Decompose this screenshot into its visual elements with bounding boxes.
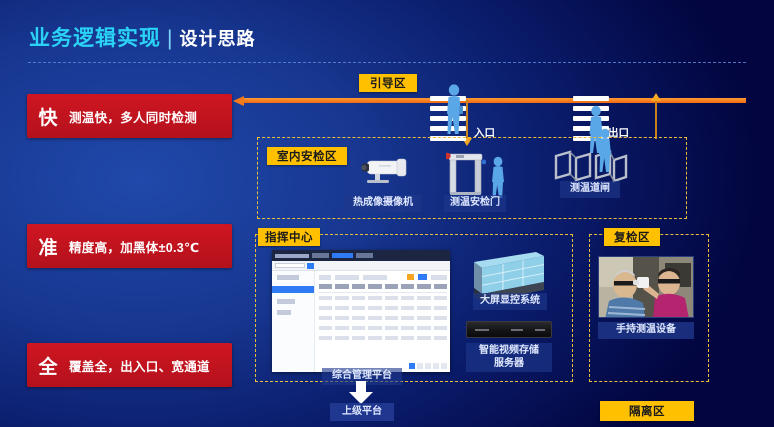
management-platform-screenshot[interactable] — [272, 250, 450, 372]
page-number-active[interactable] — [409, 363, 415, 369]
platform-table-header — [319, 284, 447, 293]
platform-toolbar — [319, 274, 447, 280]
platform-menu-item[interactable] — [277, 275, 299, 280]
toolbar-field[interactable] — [363, 275, 387, 280]
platform-sidebar — [272, 271, 315, 372]
feature-tag-key: 准 — [27, 233, 69, 260]
caption-turnstile: 测温道闸 — [560, 181, 620, 198]
platform-tab[interactable] — [312, 253, 329, 258]
thermal-camera-icon — [353, 155, 415, 189]
caption-upper-platform: 上级平台 — [330, 403, 394, 421]
zone-label-indoor-security: 室内安检区 — [267, 147, 347, 165]
feature-tag-key: 全 — [27, 352, 69, 379]
toolbar-add-button[interactable] — [418, 274, 427, 280]
platform-filter-button[interactable] — [307, 263, 314, 269]
page-number[interactable] — [417, 363, 423, 369]
storage-server-icon — [466, 321, 552, 338]
caption-storage-server-line2: 服务器 — [494, 358, 524, 369]
feature-tag-accurate: 准 精度高，加黑体±0.3℃ — [27, 224, 232, 268]
platform-subbar — [272, 261, 450, 271]
flow-arrow-exit — [655, 100, 657, 139]
caption-storage-server: 智能视频存储 服务器 — [466, 343, 552, 372]
pedestrian-at-turnstile-icon — [594, 128, 616, 174]
toolbar-field — [431, 275, 447, 280]
pedestrian-entrance-icon — [441, 84, 467, 136]
platform-tab[interactable] — [356, 253, 373, 258]
page-title-divider: | — [161, 27, 179, 50]
page-title: 业务逻辑实现|设计思路 — [29, 22, 255, 52]
feature-tag-fast: 快 测温快，多人同时检测 — [27, 94, 232, 138]
flow-line-horizontal — [243, 98, 746, 103]
table-row[interactable] — [319, 323, 447, 333]
platform-menu-item[interactable] — [277, 299, 295, 304]
table-row[interactable] — [319, 333, 447, 343]
caption-video-wall: 大屏显控系统 — [473, 293, 547, 310]
header-divider — [28, 62, 746, 63]
handheld-photo-illustration — [599, 257, 694, 318]
security-gate-icon — [446, 152, 486, 196]
table-row[interactable] — [319, 303, 447, 313]
page-number[interactable] — [433, 363, 439, 369]
page-number[interactable] — [441, 363, 447, 369]
zone-label-command-center: 指挥中心 — [258, 228, 320, 246]
slide-canvas: 业务逻辑实现|设计思路 快 测温快，多人同时检测 准 精度高，加黑体±0.3℃ … — [0, 0, 774, 427]
platform-menu-item-active[interactable] — [272, 286, 314, 293]
zone-label-recheck: 复检区 — [604, 228, 660, 246]
table-row[interactable] — [319, 293, 447, 303]
platform-menu-item[interactable] — [277, 310, 291, 315]
feature-tag-text: 测温快，多人同时检测 — [69, 107, 197, 126]
flow-arrow-down-icon — [347, 381, 375, 405]
caption-thermal-camera: 热成像摄像机 — [345, 195, 421, 212]
platform-topbar — [272, 250, 450, 261]
platform-body — [272, 271, 450, 372]
caption-storage-server-line1: 智能视频存储 — [479, 345, 539, 356]
pedestrian-at-gate-icon — [487, 156, 509, 200]
feature-tag-complete: 全 覆盖全，出入口、宽通道 — [27, 343, 232, 387]
toolbar-field[interactable] — [319, 275, 331, 280]
zone-label-guide: 引导区 — [359, 74, 417, 92]
toolbar-search-button[interactable] — [407, 274, 414, 280]
feature-tag-text: 精度高，加黑体±0.3℃ — [69, 237, 199, 256]
toolbar-field[interactable] — [335, 275, 359, 280]
table-row[interactable] — [319, 313, 447, 323]
page-title-main: 业务逻辑实现 — [29, 27, 161, 50]
zone-label-isolation: 隔离区 — [600, 401, 694, 421]
page-title-sub: 设计思路 — [179, 29, 255, 49]
platform-filter-input[interactable] — [275, 263, 305, 268]
platform-brand — [275, 254, 309, 258]
platform-tab-active[interactable] — [332, 253, 353, 258]
caption-security-gate: 测温安检门 — [444, 195, 506, 212]
handheld-device-photo — [598, 256, 694, 318]
caption-handheld-device: 手持测温设备 — [598, 322, 694, 339]
platform-content — [315, 271, 450, 372]
feature-tag-key: 快 — [27, 103, 69, 130]
page-number[interactable] — [425, 363, 431, 369]
feature-tag-text: 覆盖全，出入口、宽通道 — [69, 356, 210, 375]
